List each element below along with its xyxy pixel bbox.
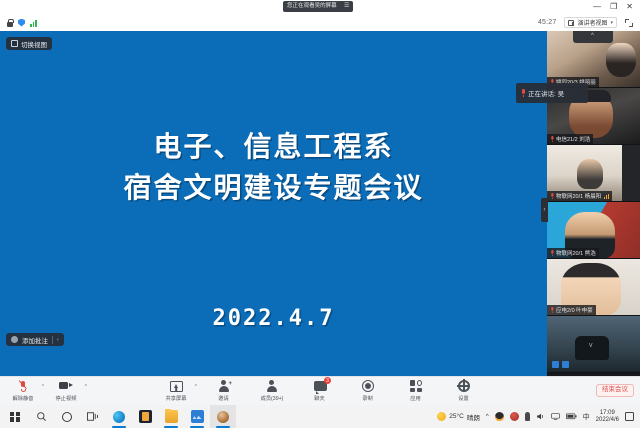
participant-name-tag: 物联网20/1 熊浩 xyxy=(547,248,599,258)
folder-icon xyxy=(165,410,178,423)
chevron-down-icon: ▾ xyxy=(610,20,613,26)
switch-view-icon xyxy=(11,40,18,47)
end-meeting-button[interactable]: 结束会议 xyxy=(596,384,634,397)
record-icon xyxy=(362,379,374,393)
meeting-app-header: 45:27 演讲者视图 ▾ xyxy=(0,14,640,31)
participant-name-tag: 物联网20/1 杨晨阳 xyxy=(547,191,612,201)
edge-app[interactable] xyxy=(106,405,132,428)
meeting-toolbar: 解除静音 ^ 停止视频 ^ 共享屏幕 ^ + xyxy=(0,376,640,405)
mic-icon[interactable] xyxy=(525,412,530,421)
share-screen-icon xyxy=(170,379,183,393)
meeting-app[interactable] xyxy=(184,405,210,428)
restore-button[interactable]: ❐ xyxy=(610,0,617,14)
mic-muted-icon xyxy=(551,250,554,256)
mic-muted-icon xyxy=(551,136,554,142)
screen-root: 您正在观看吴的屏幕 ☰ — ❐ ✕ 45:27 演讲者视图 ▾ 电子、信息 xyxy=(0,0,640,428)
store-icon xyxy=(139,410,152,423)
task-view-icon xyxy=(87,411,99,422)
signal-bars-icon xyxy=(604,194,609,199)
browser-app-icon xyxy=(217,411,229,423)
annotate-button[interactable]: 添加批注 ‹ xyxy=(6,333,64,346)
chat-label: 聊天 xyxy=(315,394,325,402)
fullscreen-icon[interactable] xyxy=(625,19,633,27)
apps-button[interactable]: 应用 xyxy=(401,379,431,402)
weather-widget[interactable]: 25°C 晴朗 xyxy=(437,412,480,422)
invite-button[interactable]: + 邀请 xyxy=(209,379,239,402)
apps-label: 应用 xyxy=(411,394,421,402)
notification-icon[interactable] xyxy=(625,412,634,421)
slide-title: 电子、信息工程系 宿舍文明建设专题会议 xyxy=(0,127,547,208)
record-button[interactable]: 录制 xyxy=(353,379,383,402)
active-speaker-label: 正在讲话: 吴 xyxy=(528,88,564,98)
windows-logo-icon xyxy=(10,412,20,422)
store-app[interactable] xyxy=(132,405,158,428)
file-explorer-app[interactable] xyxy=(158,405,184,428)
screen-share-banner[interactable]: 您正在观看吴的屏幕 ☰ xyxy=(283,1,353,12)
annotate-icon xyxy=(11,336,18,343)
filmstrip-collapse-handle[interactable]: ‹ xyxy=(541,198,548,222)
mic-muted-icon xyxy=(551,307,554,313)
annotate-label: 添加批注 xyxy=(22,335,48,345)
antivirus-icon[interactable] xyxy=(510,412,519,421)
participant-tile[interactable]: 物联网20/1 杨晨阳 xyxy=(547,145,640,202)
meeting-timer: 45:27 xyxy=(538,19,557,26)
chat-button[interactable]: 3 聊天 xyxy=(305,379,335,402)
shared-screen-stage[interactable]: 电子、信息工程系 宿舍文明建设专题会议 2022.4.7 切换视图 添加批注 ‹ xyxy=(0,31,547,376)
share-screen-button[interactable]: 共享屏幕 ^ xyxy=(161,379,191,402)
network-icon[interactable] xyxy=(551,412,560,421)
taskbar-apps xyxy=(0,405,236,428)
participant-name-tag: 电信21/2 刘浩 xyxy=(547,134,593,144)
participant-name-tag: 应电2/0 叶申豪 xyxy=(547,305,596,315)
slide-date: 2022.4.7 xyxy=(0,306,547,331)
menu-icon[interactable]: ☰ xyxy=(344,1,349,12)
weather-desc: 晴朗 xyxy=(467,412,480,422)
settings-label: 设置 xyxy=(459,394,469,402)
invite-person-icon: + xyxy=(218,379,230,393)
settings-button[interactable]: 设置 xyxy=(449,379,479,402)
slide-title-line1: 电子、信息工程系 xyxy=(153,130,393,163)
chat-unread-badge: 3 xyxy=(324,377,331,384)
mic-muted-icon xyxy=(551,193,554,199)
participant-name: 物联网20/1 熊浩 xyxy=(556,249,596,257)
minimize-button[interactable]: — xyxy=(593,0,601,14)
participant-tile[interactable]: v xyxy=(547,316,640,373)
switch-view-button[interactable]: 切换视图 xyxy=(6,37,52,50)
meeting-app-icon xyxy=(191,410,204,423)
battery-icon[interactable] xyxy=(566,412,577,421)
mic-muted-icon xyxy=(521,89,525,97)
invite-label: 邀请 xyxy=(219,394,229,402)
gear-icon xyxy=(458,379,470,393)
window-controls: — ❐ ✕ xyxy=(593,0,638,14)
system-tray: 25°C 晴朗 ^ 中 17:09 2022 xyxy=(437,410,640,424)
shield-icon[interactable] xyxy=(18,19,25,27)
view-mode-label: 演讲者视图 xyxy=(577,18,607,27)
divider xyxy=(52,336,53,344)
header-right-controls: 45:27 演讲者视图 ▾ xyxy=(538,17,640,28)
slide-title-line2: 宿舍文明建设专题会议 xyxy=(0,168,547,209)
participant-tile[interactable]: 应电2/0 叶申豪 xyxy=(547,259,640,316)
participant-tile[interactable]: 物联网20/1 熊浩 xyxy=(547,202,640,259)
participants-button[interactable]: 成员(39+) xyxy=(257,379,287,402)
window-title-bar: 您正在观看吴的屏幕 ☰ — ❐ ✕ xyxy=(0,0,640,14)
participant-tile[interactable]: ^ 姚同20/3 姚丽丽 xyxy=(547,31,640,88)
share-screen-label: 共享屏幕 xyxy=(166,394,187,402)
clock-date: 2022/4/6 xyxy=(596,417,619,424)
participant-name: 应电2/0 叶申豪 xyxy=(556,306,593,314)
record-label: 录制 xyxy=(363,394,373,402)
tray-overflow-button[interactable]: ^ xyxy=(486,414,489,420)
search-icon xyxy=(36,411,47,422)
screen-share-banner-text: 您正在观看吴的屏幕 xyxy=(287,1,337,11)
start-button[interactable] xyxy=(2,405,28,428)
apps-icon xyxy=(410,379,422,393)
clock-time: 17:09 xyxy=(596,410,619,417)
edge-icon xyxy=(113,411,125,423)
switch-view-label: 切换视图 xyxy=(21,39,47,49)
search-button[interactable] xyxy=(28,405,54,428)
penguin-icon[interactable] xyxy=(495,412,504,421)
clock[interactable]: 17:09 2022/4/6 xyxy=(596,410,619,424)
cortana-circle-icon xyxy=(62,412,72,422)
browser-app[interactable] xyxy=(210,405,236,428)
participant-name: 电信21/2 刘浩 xyxy=(556,135,590,143)
participant-name: 物联网20/1 杨晨阳 xyxy=(556,192,601,200)
ime-indicator[interactable]: 中 xyxy=(583,412,590,422)
view-mode-selector[interactable]: 演讲者视图 ▾ xyxy=(564,17,617,28)
windows-taskbar: 25°C 晴朗 ^ 中 17:09 2022 xyxy=(0,405,640,428)
close-button[interactable]: ✕ xyxy=(626,0,633,14)
chevron-left-icon[interactable]: ‹ xyxy=(57,337,59,343)
participants-icon xyxy=(266,379,278,393)
lock-icon xyxy=(7,19,13,27)
task-view-button[interactable] xyxy=(80,405,106,428)
chevron-up-icon[interactable]: ^ xyxy=(195,384,197,390)
sun-icon xyxy=(437,412,446,421)
cortana-button[interactable] xyxy=(54,405,80,428)
participants-label: 成员(39+) xyxy=(261,394,284,402)
volume-icon[interactable] xyxy=(536,412,545,421)
signal-bars-icon[interactable] xyxy=(30,19,37,27)
active-speaker-banner: 正在讲话: 吴 xyxy=(516,83,588,103)
header-status-icons xyxy=(0,19,37,27)
weather-temp: 25°C xyxy=(449,413,464,420)
toolbar-center-group: 共享屏幕 ^ + 邀请 成员(39+) 3 聊天 xyxy=(0,379,640,402)
speaker-view-icon xyxy=(568,20,574,26)
